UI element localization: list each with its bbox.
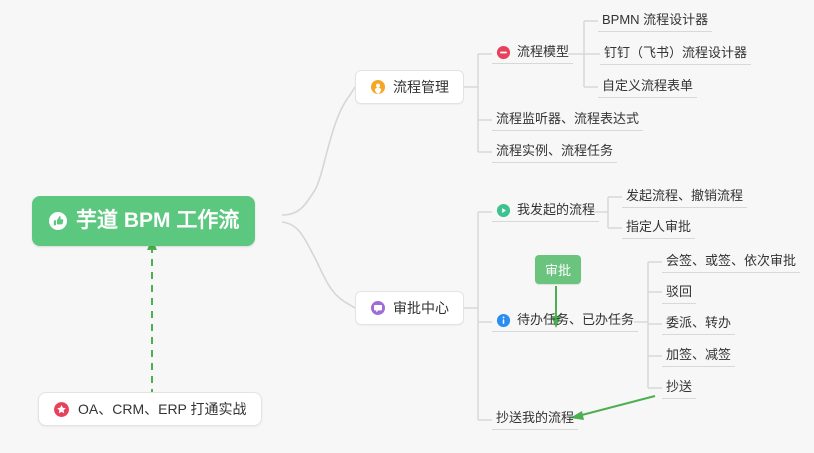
approval-tag: 审批 (535, 255, 581, 284)
branch-node-process-management[interactable]: 流程管理 (355, 70, 464, 104)
node-dingtalk-designer[interactable]: 钉钉（飞书）流程设计器 (600, 45, 751, 65)
node-countersign[interactable]: 会签、或签、依次审批 (662, 253, 800, 273)
node-reject[interactable]: 驳回 (662, 284, 696, 304)
node-custom-form[interactable]: 自定义流程表单 (598, 78, 697, 98)
node-todo-done-tasks[interactable]: 待办任务、已办任务 (492, 312, 638, 332)
node-cc-to-me[interactable]: 抄送我的流程 (492, 410, 578, 430)
branch-label: 审批中心 (393, 298, 449, 318)
node-delegate-transfer[interactable]: 委派、转办 (662, 315, 735, 335)
node-label: 待办任务、已办任务 (517, 312, 634, 328)
node-label: 我发起的流程 (517, 202, 595, 218)
branch-label: 流程管理 (393, 77, 449, 97)
node-label: 会签、或签、依次审批 (666, 253, 796, 268)
root-label: 芋道 BPM 工作流 (76, 196, 239, 246)
location-pin-icon (370, 79, 386, 95)
root-node[interactable]: 芋道 BPM 工作流 (32, 196, 255, 246)
node-cc[interactable]: 抄送 (662, 379, 696, 399)
play-circle-icon (496, 203, 511, 218)
message-circle-icon (370, 300, 386, 316)
node-label: 加签、减签 (666, 347, 731, 362)
node-label: 委派、转办 (666, 315, 731, 330)
node-label: 钉钉（飞书）流程设计器 (604, 45, 747, 60)
thumbs-up-icon (48, 211, 68, 231)
node-add-remove-sign[interactable]: 加签、减签 (662, 347, 735, 367)
branch-node-approval-center[interactable]: 审批中心 (355, 291, 464, 325)
node-label: 指定人审批 (626, 219, 691, 234)
node-process-model-leaf[interactable]: 流程模型 (492, 44, 573, 64)
node-label: 自定义流程表单 (602, 78, 693, 93)
node-listener-expression[interactable]: 流程监听器、流程表达式 (492, 111, 643, 131)
node-instance-task[interactable]: 流程实例、流程任务 (492, 143, 617, 163)
node-my-initiated-leaf[interactable]: 我发起的流程 (492, 202, 599, 222)
node-assignee-approval[interactable]: 指定人审批 (622, 219, 695, 239)
node-todo-done-tasks-leaf[interactable]: 待办任务、已办任务 (492, 312, 638, 332)
callout-label: OA、CRM、ERP 打通实战 (78, 399, 247, 419)
node-label: 抄送 (666, 379, 692, 394)
node-label: 抄送我的流程 (496, 410, 574, 425)
approval-tag-label: 审批 (545, 263, 571, 278)
node-bpmn-designer[interactable]: BPMN 流程设计器 (598, 12, 712, 32)
node-label: 流程模型 (517, 44, 569, 60)
node-label: BPMN 流程设计器 (602, 12, 708, 27)
node-start-cancel-process[interactable]: 发起流程、撤销流程 (622, 188, 747, 208)
node-label: 发起流程、撤销流程 (626, 188, 743, 203)
node-process-model[interactable]: 流程模型 (492, 44, 573, 64)
callout-integration[interactable]: OA、CRM、ERP 打通实战 (38, 392, 262, 426)
info-circle-icon (496, 313, 511, 328)
node-label: 流程监听器、流程表达式 (496, 111, 639, 126)
node-label: 流程实例、流程任务 (496, 143, 613, 158)
minus-circle-icon (496, 45, 511, 60)
star-circle-icon (53, 401, 70, 418)
mindmap-canvas: 芋道 BPM 工作流 流程管理 流程模型 BPMN 流程设计器 钉钉（飞书）流程… (0, 0, 814, 453)
node-label: 驳回 (666, 284, 692, 299)
node-my-initiated[interactable]: 我发起的流程 (492, 202, 599, 222)
